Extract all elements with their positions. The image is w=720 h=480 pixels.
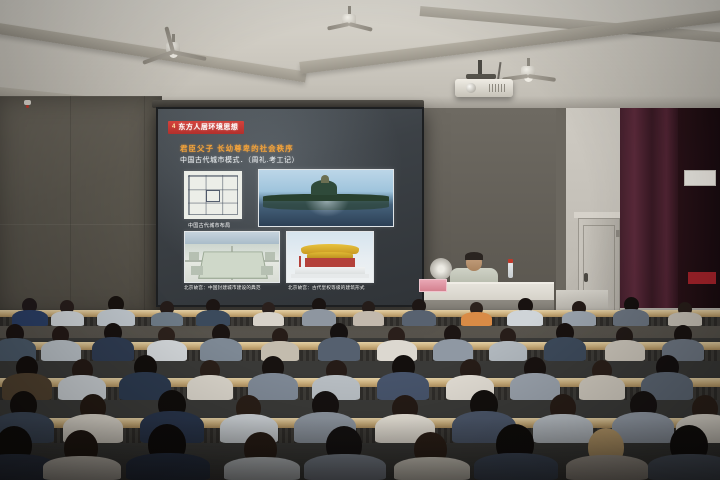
bottle-cap — [508, 259, 513, 263]
projector-lens — [466, 83, 476, 93]
smoke-detector-led — [26, 105, 29, 108]
ceiling-fan — [138, 34, 208, 64]
water-bottle — [508, 262, 513, 278]
slide-title-text: 东方人居环境思想 — [178, 122, 238, 132]
figure-caption: 北京故宫：中国封建城市建设的典范 — [184, 285, 261, 291]
slide-title-banner: 4 东方人居环境思想 — [168, 121, 244, 134]
figure-caption: 中国古代城市布局 — [188, 222, 230, 229]
acoustic-wall-panel — [0, 96, 162, 318]
ceiling-projector — [455, 79, 513, 97]
wall-sign — [684, 170, 716, 186]
slide-subtitle-primary: 君臣父子 长幼尊卑的社会秩序 — [180, 143, 294, 154]
temple-reflection-photo — [258, 169, 394, 227]
figure-caption: 北京故宫：古代皇权等级的建筑形式 — [288, 285, 365, 291]
name-card — [419, 279, 447, 292]
presenter-hair — [465, 252, 483, 260]
ancient-city-grid-diagram — [184, 171, 242, 219]
desk-fan — [430, 258, 452, 280]
door-handle[interactable] — [584, 273, 588, 282]
projection-screen: 4 东方人居环境思想 君臣父子 长幼尊卑的社会秩序 中国古代城市模式．（周礼.考… — [156, 107, 424, 307]
slide-number: 4 — [172, 124, 175, 130]
stage-curtain — [620, 108, 678, 308]
projector-vent — [489, 84, 507, 92]
lecture-hall-photo: 4 东方人居环境思想 君臣父子 长幼尊卑的社会秩序 中国古代城市模式．（周礼.考… — [0, 0, 720, 480]
audience-seating — [0, 296, 720, 480]
forbidden-city-gate-photo — [286, 231, 374, 283]
red-wall-sign — [688, 272, 716, 284]
slide-subtitle-secondary: 中国古代城市模式．（周礼.考工记） — [180, 155, 299, 165]
aerial-city-plan-render — [184, 231, 280, 283]
ceiling-fan — [322, 6, 376, 28]
